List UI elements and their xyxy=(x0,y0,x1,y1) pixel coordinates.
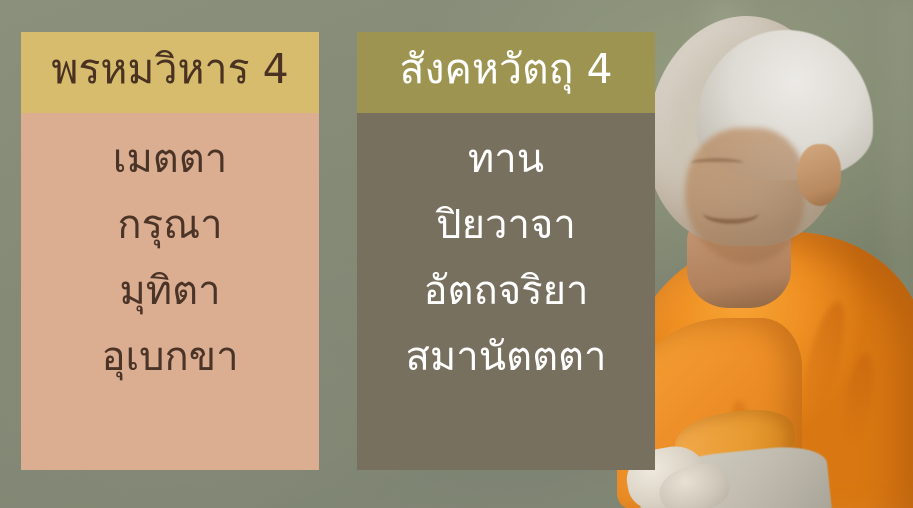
monk-photo xyxy=(613,0,913,508)
card-sangkhahawatthu: สังคหวัตถุ 4 ทาน ปิยวาจา อัตถจริยา สมานั… xyxy=(357,32,655,470)
card-item: ปิยวาจา xyxy=(436,193,576,259)
card-item: สมานัตตตา xyxy=(406,325,607,391)
monk-ear xyxy=(797,144,841,206)
monk-brow xyxy=(691,158,743,168)
card-item: มุทิตา xyxy=(119,259,220,325)
monk-head xyxy=(647,16,843,246)
card-title: พรหมวิหาร 4 xyxy=(51,49,288,90)
card-item: ทาน xyxy=(468,127,544,193)
card-header: สังคหวัตถุ 4 xyxy=(357,32,655,113)
card-header: พรหมวิหาร 4 xyxy=(21,32,319,113)
monk-smile xyxy=(703,202,759,224)
slide-canvas: พรหมวิหาร 4 เมตตา กรุณา มุทิตา อุเบกขา ส… xyxy=(0,0,913,508)
card-item: กรุณา xyxy=(117,193,222,259)
card-title: สังคหวัตถุ 4 xyxy=(399,49,612,90)
card-phrom-wihan: พรหมวิหาร 4 เมตตา กรุณา มุทิตา อุเบกขา xyxy=(21,32,319,470)
card-body: ทาน ปิยวาจา อัตถจริยา สมานัตตตา xyxy=(357,113,655,470)
card-item: เมตตา xyxy=(113,127,227,193)
card-item: อุเบกขา xyxy=(101,325,238,391)
card-item: อัตถจริยา xyxy=(423,259,588,325)
monk-face xyxy=(685,128,805,264)
card-body: เมตตา กรุณา มุทิตา อุเบกขา xyxy=(21,113,319,470)
